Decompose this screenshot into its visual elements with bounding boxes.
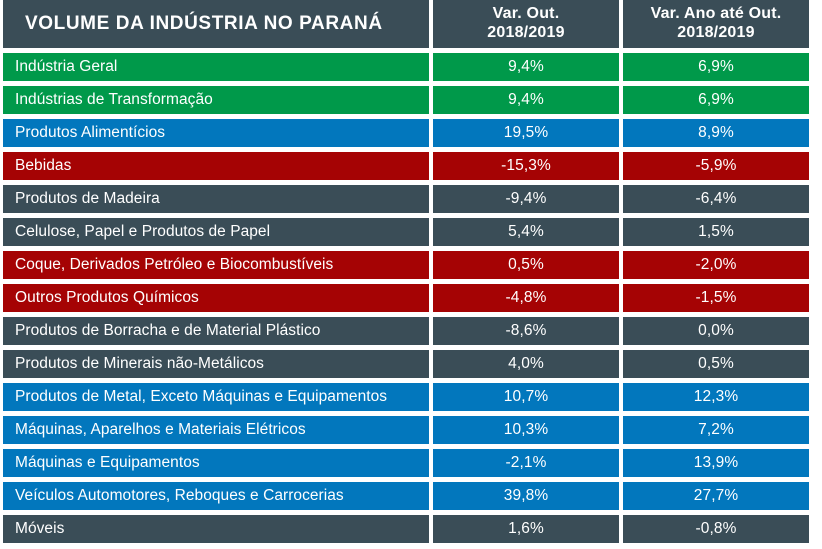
table-row: Veículos Automotores, Reboques e Carroce… bbox=[2, 482, 820, 510]
row-var-ano-cell: 6,9% bbox=[623, 86, 809, 114]
row-label-cell: Outros Produtos Químicos bbox=[3, 284, 429, 312]
row-var-ano-cell: -2,0% bbox=[623, 251, 809, 279]
row-var-ano-cell: 8,9% bbox=[623, 119, 809, 147]
row-var-ano-cell: -0,8% bbox=[623, 515, 809, 543]
row-var-ano-cell: -6,4% bbox=[623, 185, 809, 213]
row-label-cell: Coque, Derivados Petróleo e Biocombustív… bbox=[3, 251, 429, 279]
row-var-out-cell: 10,3% bbox=[433, 416, 619, 444]
table-body: Indústria Geral9,4%6,9%Indústrias de Tra… bbox=[2, 48, 820, 543]
row-var-out-cell: 4,0% bbox=[433, 350, 619, 378]
table-row: Produtos de Madeira-9,4%-6,4% bbox=[2, 185, 820, 213]
table-header-row: VOLUME DA INDÚSTRIA NO PARANÁ Var. Out. … bbox=[2, 0, 820, 48]
table-row: Máquinas e Equipamentos-2,1%13,9% bbox=[2, 449, 820, 477]
row-var-out-cell: -4,8% bbox=[433, 284, 619, 312]
row-var-ano-cell: 13,9% bbox=[623, 449, 809, 477]
industry-volume-table: VOLUME DA INDÚSTRIA NO PARANÁ Var. Out. … bbox=[0, 0, 822, 549]
column-header-var-out: Var. Out. 2018/2019 bbox=[433, 0, 619, 48]
table-row: Coque, Derivados Petróleo e Biocombustív… bbox=[2, 251, 820, 279]
row-var-ano-cell: 1,5% bbox=[623, 218, 809, 246]
table-row: Produtos de Minerais não-Metálicos4,0%0,… bbox=[2, 350, 820, 378]
table-row: Produtos de Metal, Exceto Máquinas e Equ… bbox=[2, 383, 820, 411]
row-var-out-cell: -15,3% bbox=[433, 152, 619, 180]
row-var-out-cell: 5,4% bbox=[433, 218, 619, 246]
row-label-cell: Produtos de Metal, Exceto Máquinas e Equ… bbox=[3, 383, 429, 411]
table-row: Celulose, Papel e Produtos de Papel5,4%1… bbox=[2, 218, 820, 246]
row-label-cell: Produtos Alimentícios bbox=[3, 119, 429, 147]
row-var-ano-cell: 7,2% bbox=[623, 416, 809, 444]
row-label-cell: Produtos de Minerais não-Metálicos bbox=[3, 350, 429, 378]
row-label-cell: Produtos de Madeira bbox=[3, 185, 429, 213]
row-var-ano-cell: -1,5% bbox=[623, 284, 809, 312]
row-var-out-cell: 1,6% bbox=[433, 515, 619, 543]
column-header-var-ano-line1: Var. Ano até Out. bbox=[651, 5, 782, 24]
row-var-ano-cell: 0,0% bbox=[623, 317, 809, 345]
row-var-ano-cell: 27,7% bbox=[623, 482, 809, 510]
row-var-out-cell: 39,8% bbox=[433, 482, 619, 510]
row-var-out-cell: -2,1% bbox=[433, 449, 619, 477]
table-row: Indústria Geral9,4%6,9% bbox=[2, 53, 820, 81]
table-row: Produtos Alimentícios19,5%8,9% bbox=[2, 119, 820, 147]
row-var-out-cell: 9,4% bbox=[433, 86, 619, 114]
row-var-ano-cell: 6,9% bbox=[623, 53, 809, 81]
column-header-var-out-line1: Var. Out. bbox=[487, 5, 564, 24]
page-title: VOLUME DA INDÚSTRIA NO PARANÁ bbox=[25, 13, 383, 35]
row-label-cell: Indústria Geral bbox=[3, 53, 429, 81]
row-var-out-cell: 19,5% bbox=[433, 119, 619, 147]
row-label-cell: Móveis bbox=[3, 515, 429, 543]
row-label-cell: Celulose, Papel e Produtos de Papel bbox=[3, 218, 429, 246]
table-row: Outros Produtos Químicos-4,8%-1,5% bbox=[2, 284, 820, 312]
table-row: Móveis1,6%-0,8% bbox=[2, 515, 820, 543]
row-var-ano-cell: 0,5% bbox=[623, 350, 809, 378]
row-var-out-cell: 10,7% bbox=[433, 383, 619, 411]
row-var-out-cell: 0,5% bbox=[433, 251, 619, 279]
table-row: Máquinas, Aparelhos e Materiais Elétrico… bbox=[2, 416, 820, 444]
column-header-var-ano-line2: 2018/2019 bbox=[651, 24, 782, 43]
row-label-cell: Máquinas, Aparelhos e Materiais Elétrico… bbox=[3, 416, 429, 444]
row-var-out-cell: -9,4% bbox=[433, 185, 619, 213]
table-row: Bebidas-15,3%-5,9% bbox=[2, 152, 820, 180]
column-header-var-out-line2: 2018/2019 bbox=[487, 24, 564, 43]
row-label-cell: Indústrias de Transformação bbox=[3, 86, 429, 114]
row-var-out-cell: -8,6% bbox=[433, 317, 619, 345]
row-label-cell: Máquinas e Equipamentos bbox=[3, 449, 429, 477]
row-var-ano-cell: 12,3% bbox=[623, 383, 809, 411]
row-label-cell: Produtos de Borracha e de Material Plást… bbox=[3, 317, 429, 345]
table-row: Indústrias de Transformação9,4%6,9% bbox=[2, 86, 820, 114]
row-label-cell: Bebidas bbox=[3, 152, 429, 180]
row-var-ano-cell: -5,9% bbox=[623, 152, 809, 180]
row-label-cell: Veículos Automotores, Reboques e Carroce… bbox=[3, 482, 429, 510]
table-title-cell: VOLUME DA INDÚSTRIA NO PARANÁ bbox=[3, 0, 429, 48]
column-header-var-ano: Var. Ano até Out. 2018/2019 bbox=[623, 0, 809, 48]
row-var-out-cell: 9,4% bbox=[433, 53, 619, 81]
table-row: Produtos de Borracha e de Material Plást… bbox=[2, 317, 820, 345]
